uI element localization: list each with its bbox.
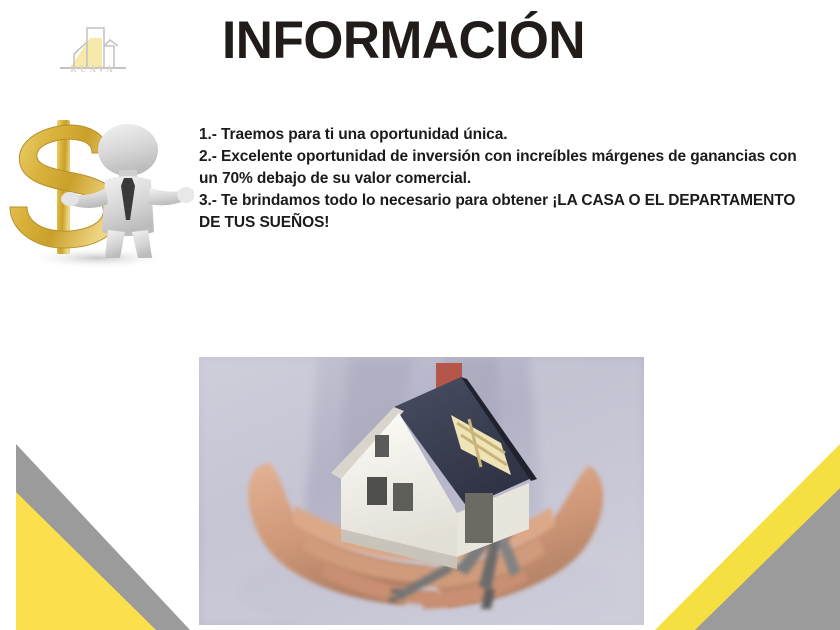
house-window-lower-right-shape [393, 483, 413, 511]
house-window-upper-shape [375, 435, 389, 457]
company-logo: RUAVA [50, 20, 136, 82]
hands-holding-model-house-photo [199, 357, 644, 625]
bottom-right-corner-decoration [655, 430, 840, 630]
house-doorway-shape [465, 493, 493, 543]
dollar-sign-with-3d-figure-graphic [2, 108, 194, 268]
logo-right-roof-shape [104, 40, 118, 46]
bottom-left-corner-decoration [0, 430, 190, 630]
slide-canvas: RUAVA INFORMACIÓN [0, 0, 840, 630]
page-title: INFORMACIÓN [222, 12, 585, 70]
body-line-1: 1.- Traemos para ti una oportunidad únic… [199, 124, 815, 146]
information-body-text: 1.- Traemos para ti una oportunidad únic… [199, 124, 815, 234]
logo-wordmark: RUAVA [50, 64, 136, 74]
house-window-lower-left-shape [367, 477, 387, 505]
body-line-3: 3.- Te brindamos todo lo necesario para … [199, 190, 815, 234]
body-line-2: 2.- Excelente oportunidad de inversión c… [199, 146, 815, 190]
